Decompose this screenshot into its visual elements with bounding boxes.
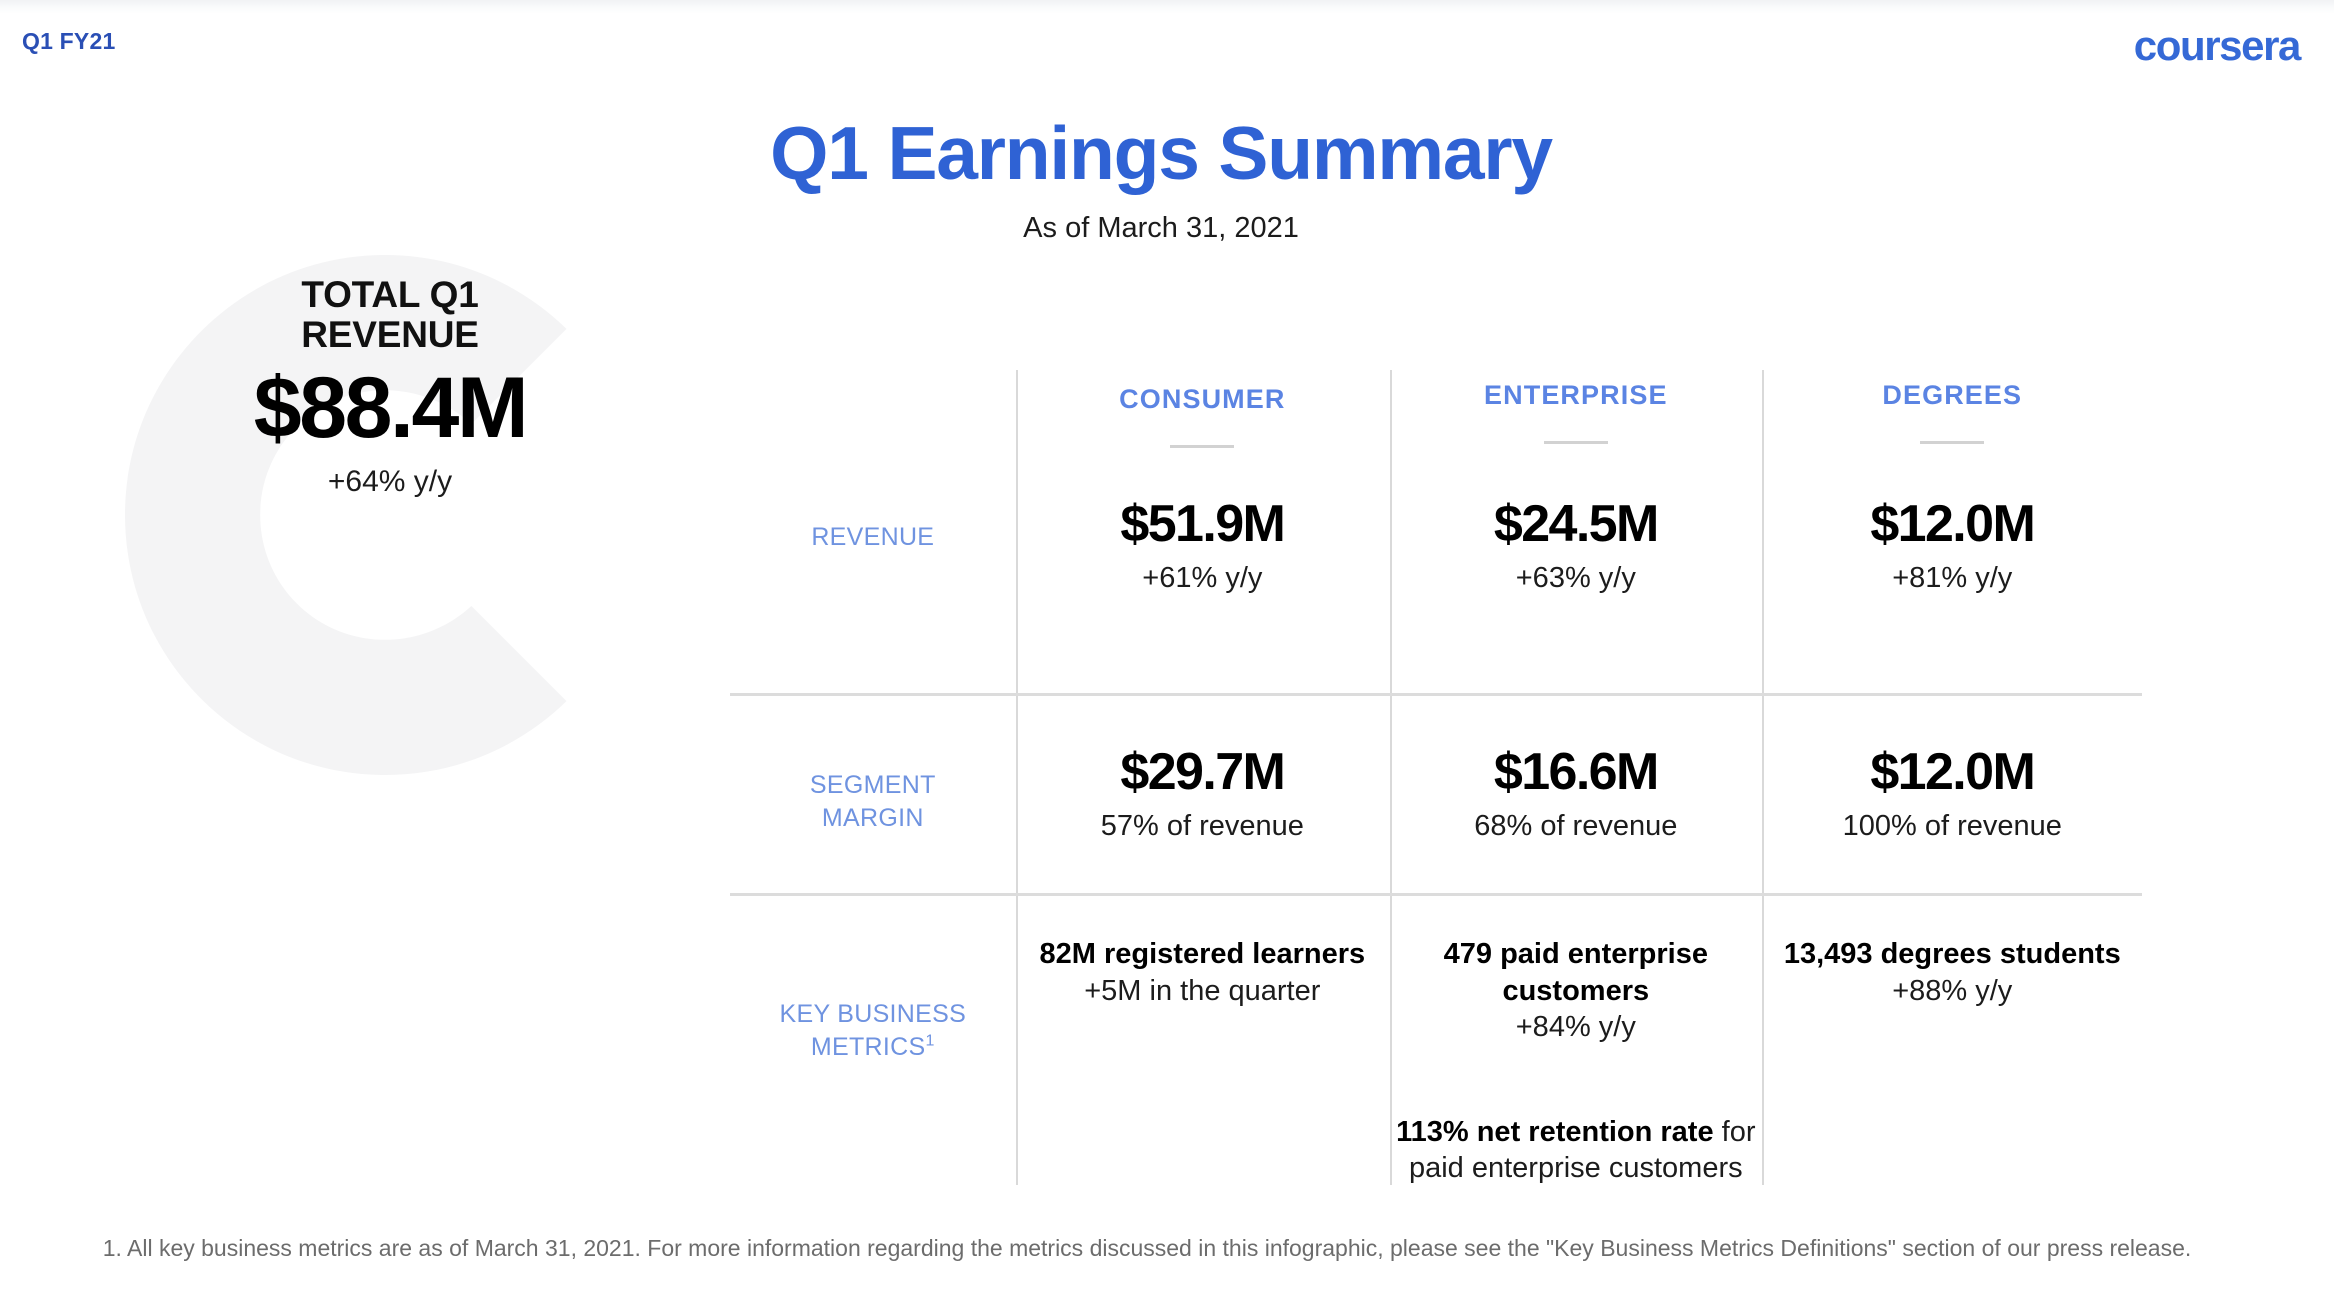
column-header-enterprise-label: ENTERPRISE xyxy=(1389,380,1762,411)
footnote-superscript-marker: 1 xyxy=(926,1033,935,1050)
cell-kbm-headline-secondary: 113% net retention rate xyxy=(1396,1116,1714,1148)
column-header-consumer-label: CONSUMER xyxy=(1016,384,1389,415)
cell-margin-consumer: $29.7M 57% of revenue xyxy=(1016,746,1389,843)
row-label-line2-wrap: METRICS1 xyxy=(730,1031,1016,1064)
cell-kbm-detail: +88% y/y xyxy=(1763,973,2142,1010)
cell-subvalue: 100% of revenue xyxy=(1763,810,2142,843)
cell-subvalue: +61% y/y xyxy=(1016,562,1389,595)
header-row-label-spacer xyxy=(730,370,1016,480)
total-revenue-label: TOTAL Q1 REVENUE xyxy=(90,275,690,355)
cell-value: $12.0M xyxy=(1763,498,2142,550)
footnote: 1. All key business metrics are as of Ma… xyxy=(0,1235,2334,1262)
cell-value: $51.9M xyxy=(1016,498,1389,550)
top-edge-strip xyxy=(0,0,2334,14)
row-label-key-business-metrics: KEY BUSINESS METRICS1 xyxy=(730,936,1016,1064)
cell-kbm-detail: +84% y/y xyxy=(1389,1009,1762,1046)
row-label-line1: KEY BUSINESS xyxy=(730,998,1016,1031)
cell-value: $29.7M xyxy=(1016,746,1389,798)
cell-margin-enterprise: $16.6M 68% of revenue xyxy=(1389,746,1762,843)
row-label-segment-margin: SEGMENT MARGIN xyxy=(730,746,1016,835)
cell-value: $12.0M xyxy=(1763,746,2142,798)
cell-subvalue: 68% of revenue xyxy=(1389,810,1762,843)
total-revenue-label-line2: REVENUE xyxy=(90,315,690,355)
total-revenue-label-line1: TOTAL Q1 xyxy=(90,275,690,315)
cell-revenue-enterprise: $24.5M +63% y/y xyxy=(1389,498,1762,595)
table-row-key-business-metrics: KEY BUSINESS METRICS1 82M registered lea… xyxy=(730,893,2142,1187)
row-label-line2: MARGIN xyxy=(730,802,1016,835)
table-row-revenue: REVENUE $51.9M +61% y/y $24.5M +63% y/y … xyxy=(730,498,2142,595)
coursera-wordmark-logo: coursera xyxy=(2134,22,2300,70)
total-revenue-text-block: TOTAL Q1 REVENUE $88.4M +64% y/y xyxy=(90,235,690,499)
page-subtitle-text: As of March 31, 2021 xyxy=(1023,212,1299,245)
page-title: Q1 Earnings Summary xyxy=(0,110,2334,196)
cell-kbm-secondary-block: 113% net retention rate for paid enterpr… xyxy=(1389,1114,1762,1187)
cell-revenue-consumer: $51.9M +61% y/y xyxy=(1016,498,1389,595)
table-column-headers: CONSUMER ENTERPRISE DEGREES xyxy=(730,370,2142,480)
cell-kbm-headline: 479 paid enterprise customers xyxy=(1389,936,1762,1009)
cell-kbm-headline: 13,493 degrees students xyxy=(1763,936,2142,973)
cell-subvalue: +63% y/y xyxy=(1389,562,1762,595)
cell-kbm-consumer: 82M registered learners +5M in the quart… xyxy=(1016,936,1389,1009)
column-header-degrees-label: DEGREES xyxy=(1763,380,2142,411)
total-revenue-growth: +64% y/y xyxy=(90,465,690,499)
total-revenue-hero: TOTAL Q1 REVENUE $88.4M +64% y/y xyxy=(90,235,690,795)
column-header-degrees: DEGREES xyxy=(1763,370,2142,480)
column-header-underline xyxy=(1170,445,1234,448)
cell-subvalue: 57% of revenue xyxy=(1016,810,1389,843)
page-title-text: Q1 Earnings Summary xyxy=(770,110,1552,196)
cell-value: $16.6M xyxy=(1389,746,1762,798)
table-row-segment-margin: SEGMENT MARGIN $29.7M 57% of revenue $16… xyxy=(730,693,2142,843)
row-label-revenue: REVENUE xyxy=(730,498,1016,554)
segment-metrics-table: CONSUMER ENTERPRISE DEGREES REVENUE $51.… xyxy=(730,370,2142,1185)
row-label-line1: SEGMENT xyxy=(730,769,1016,802)
cell-value: $24.5M xyxy=(1389,498,1762,550)
cell-margin-degrees: $12.0M 100% of revenue xyxy=(1763,746,2142,843)
row-label-line2: METRICS xyxy=(811,1033,926,1061)
cell-kbm-degrees: 13,493 degrees students +88% y/y xyxy=(1763,936,2142,1009)
cell-subvalue: +81% y/y xyxy=(1763,562,2142,595)
column-header-consumer: CONSUMER xyxy=(1016,370,1389,480)
quarter-eyebrow-label: Q1 FY21 xyxy=(22,28,115,55)
column-header-underline xyxy=(1544,441,1608,444)
footnote-text: 1. All key business metrics are as of Ma… xyxy=(103,1235,2192,1262)
column-header-underline xyxy=(1920,441,1984,444)
cell-kbm-headline: 82M registered learners xyxy=(1016,936,1389,973)
cell-kbm-enterprise: 479 paid enterprise customers +84% y/y 1… xyxy=(1389,936,1762,1187)
earnings-summary-slide: Q1 FY21 coursera Q1 Earnings Summary As … xyxy=(0,0,2334,1310)
cell-kbm-detail: +5M in the quarter xyxy=(1016,973,1389,1010)
column-header-enterprise: ENTERPRISE xyxy=(1389,370,1762,480)
cell-revenue-degrees: $12.0M +81% y/y xyxy=(1763,498,2142,595)
total-revenue-value: $88.4M xyxy=(90,365,690,451)
